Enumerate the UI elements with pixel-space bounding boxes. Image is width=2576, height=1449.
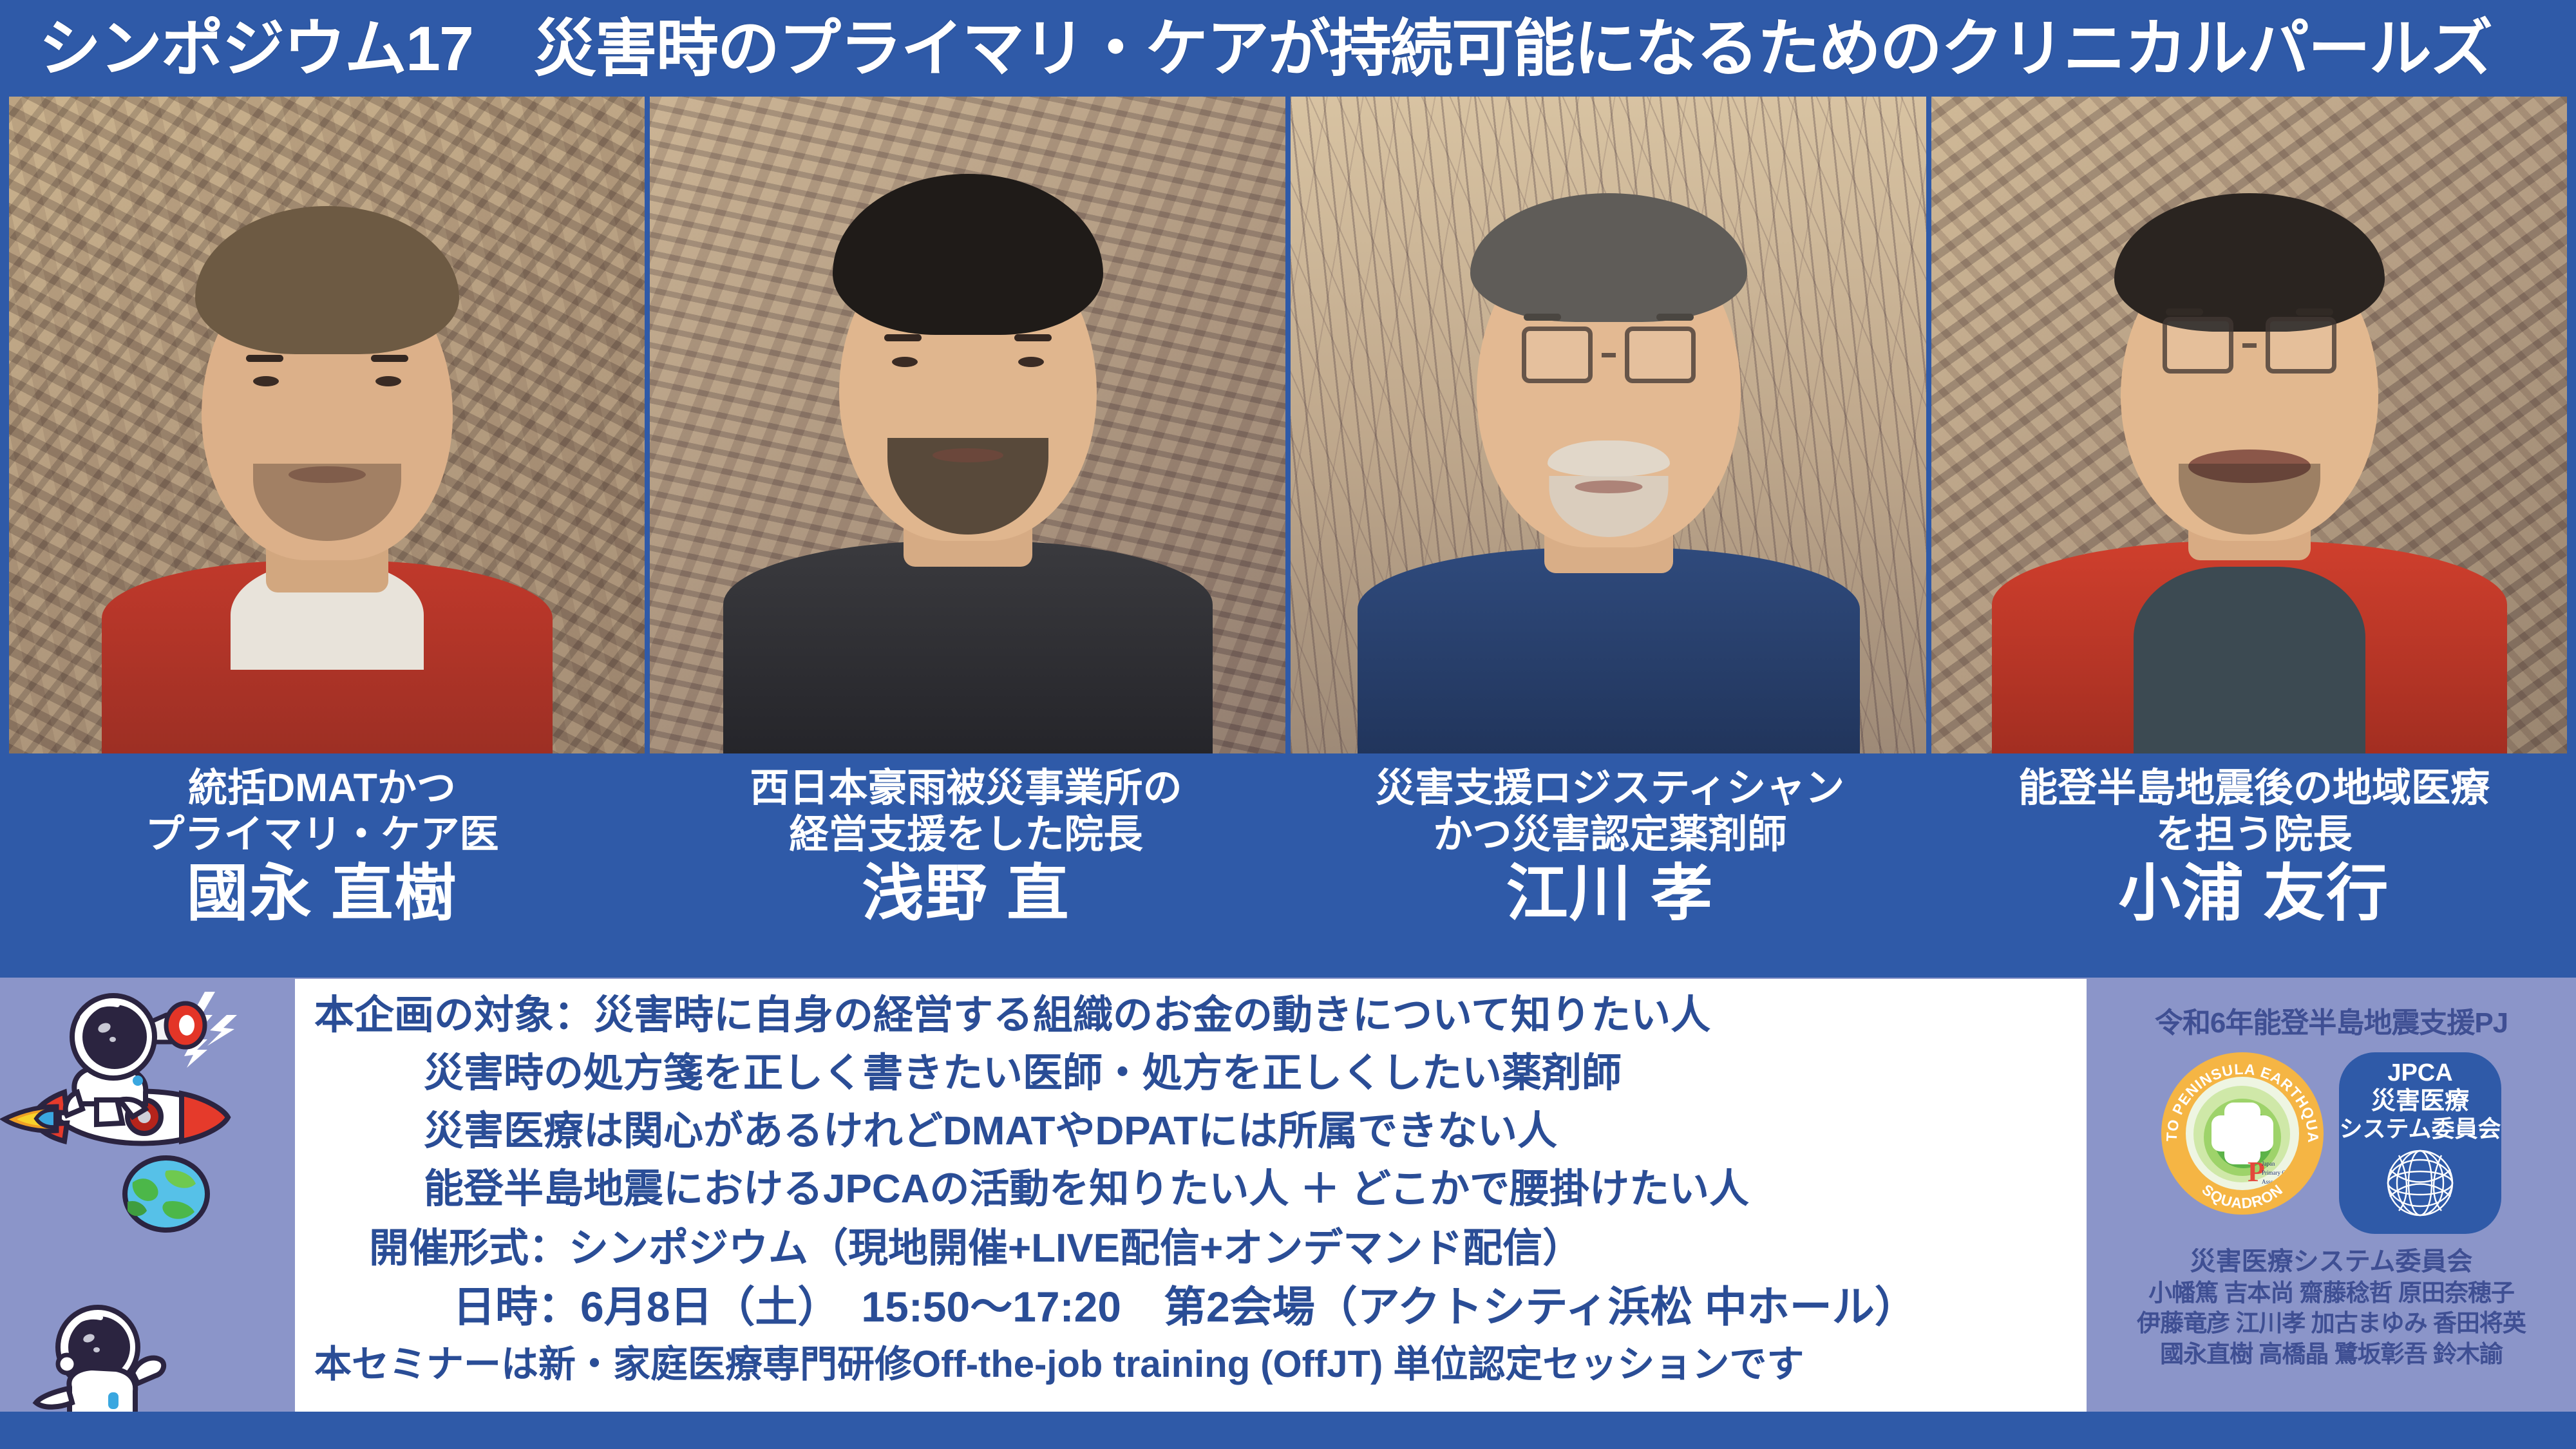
speaker-name-1: 國永 直樹 [187,862,458,927]
speaker-card-2: 西日本豪雨被災事業所の 経営支援をした院長 浅野 直 [644,753,1288,978]
page-title: シンポジウム17 災害時のプライマリ・ケアが持続可能になるためのクリニカルパール… [0,17,2492,80]
jpca-logo-line3: システム委員会 [2340,1115,2501,1142]
info-panel: 本企画の対象：災害時に自身の経営する組織のお金の動きについて知りたい人 災害時の… [295,979,2087,1419]
committee-members-line1: 小幡篤 吉本尚 齋藤稔哲 原田奈穂子 [2087,1278,2576,1308]
info-line-format: 開催形式：シンポジウム（現地開催+LIVE配信+オンデマンド配信） [295,1229,2087,1269]
speaker-name-4: 小浦 友行 [2119,862,2390,927]
footer-bar [0,1412,2576,1449]
info-line-dmat: 災害医療は関心があるけれどDMATやDPATには所属できない人 [295,1112,2087,1151]
speaker-card-1: 統括DMATかつ プライマリ・ケア医 國永 直樹 [0,753,644,978]
portrait-kuninaga [9,97,645,753]
portrait-koura [1931,97,2567,753]
portrait-egawa [1291,97,1926,753]
speaker-role-2-line1: 西日本豪雨被災事業所の [750,765,1182,811]
noto-peninsula-earthquake-squadron-logo: NOTO PENINSULA EARTHQUAKE SQUADRON P Jap… [2161,1052,2324,1215]
committee-members-line3: 國永直樹 高橋晶 鷺坂彰吾 鈴木諭 [2087,1339,2576,1369]
portrait-asano [650,97,1285,753]
info-line-prescription: 災害時の処方箋を正しく書きたい医師・処方を正しくしたい薬剤師 [295,1054,2087,1094]
title-bar: シンポジウム17 災害時のプライマリ・ケアが持続可能になるためのクリニカルパール… [0,0,2576,97]
globe-icon [2381,1144,2459,1222]
svg-text:Japan: Japan [2262,1160,2275,1167]
medical-cross-icon [2224,1115,2260,1151]
committee-members-line2: 伊藤竜彦 江川孝 加古まゆみ 香田将英 [2087,1308,2576,1338]
speaker-role-3-line1: 災害支援ロジスティシャン [1376,765,1844,811]
logo-row: NOTO PENINSULA EARTHQUAKE SQUADRON P Jap… [2087,1052,2576,1234]
jpca-disaster-medicine-system-committee-logo: JPCA 災害医療 システム委員会 [2339,1052,2501,1234]
astronaut-waving-icon [36,1307,164,1428]
jpca-logo-line2: 災害医療 [2371,1088,2469,1116]
speaker-photo-3 [1291,97,1926,753]
speaker-name-3: 江川 孝 [1506,862,1714,927]
speaker-role-3-line2: かつ災害認定薬剤師 [1433,811,1786,858]
speaker-card-3: 災害支援ロジスティシャン かつ災害認定薬剤師 江川 孝 [1288,753,1932,978]
jpca-p-mark-icon: P Japan Primary Care Association [2245,1153,2290,1190]
svg-text:Primary Care: Primary Care [2262,1170,2290,1176]
project-title: 令和6年能登半島地震支援PJ [2087,978,2576,1041]
speaker-card-4: 能登半島地震後の地域医療 を担う院長 小浦 友行 [1932,753,2576,978]
speaker-role-4-line1: 能登半島地震後の地域医療 [2018,765,2490,811]
info-line-datetime: 日時：6月8日（土） 15:50〜17:20 第2会場（アクトシティ浜松 中ホー… [295,1285,2087,1328]
svg-text:Association: Association [2262,1179,2289,1185]
earth-icon [125,1158,207,1230]
speaker-photo-1 [9,97,645,753]
committee-title: 災害医療システム委員会 [2087,1240,2576,1278]
info-line-credit: 本セミナーは新・家庭医療専門研修Off-the-job training (Of… [295,1346,2087,1383]
speaker-photo-2 [650,97,1285,753]
speaker-photo-4 [1931,97,2567,753]
speaker-role-1-line2: プライマリ・ケア医 [145,811,498,858]
speaker-role-2-line2: 経営支援をした院長 [789,811,1142,858]
speaker-name-band: 統括DMATかつ プライマリ・ケア医 國永 直樹 西日本豪雨被災事業所の 経営支… [0,753,2576,978]
info-line-target: 本企画の対象：災害時に自身の経営する組織のお金の動きについて知りたい人 [295,996,2087,1036]
speaker-photo-strip [0,97,2576,753]
speaker-name-2: 浅野 直 [862,862,1070,927]
info-line-jpca-activity: 能登半島地震におけるJPCAの活動を知りたい人 ＋ どこかで腰掛けたい人 [295,1170,2087,1209]
jpca-logo-line1: JPCA [2387,1060,2452,1087]
speaker-role-1-line1: 統括DMATかつ [188,765,456,811]
bottom-section: 本企画の対象：災害時に自身の経営する組織のお金の動きについて知りたい人 災害時の… [0,978,2576,1428]
astronaut-rocket-illustration [0,978,295,1428]
astronaut-megaphone-icon [66,996,155,1124]
poster-root: シンポジウム17 災害時のプライマリ・ケアが持続可能になるためのクリニカルパール… [0,0,2576,1449]
noto-badge-inner: P Japan Primary Care Association [2186,1077,2299,1190]
illustration-panel [0,978,295,1428]
speaker-role-4-line2: を担う院長 [2155,811,2352,858]
sponsor-panel: 令和6年能登半島地震支援PJ NOTO PENINSULA EARTHQUAKE… [2087,978,2576,1428]
